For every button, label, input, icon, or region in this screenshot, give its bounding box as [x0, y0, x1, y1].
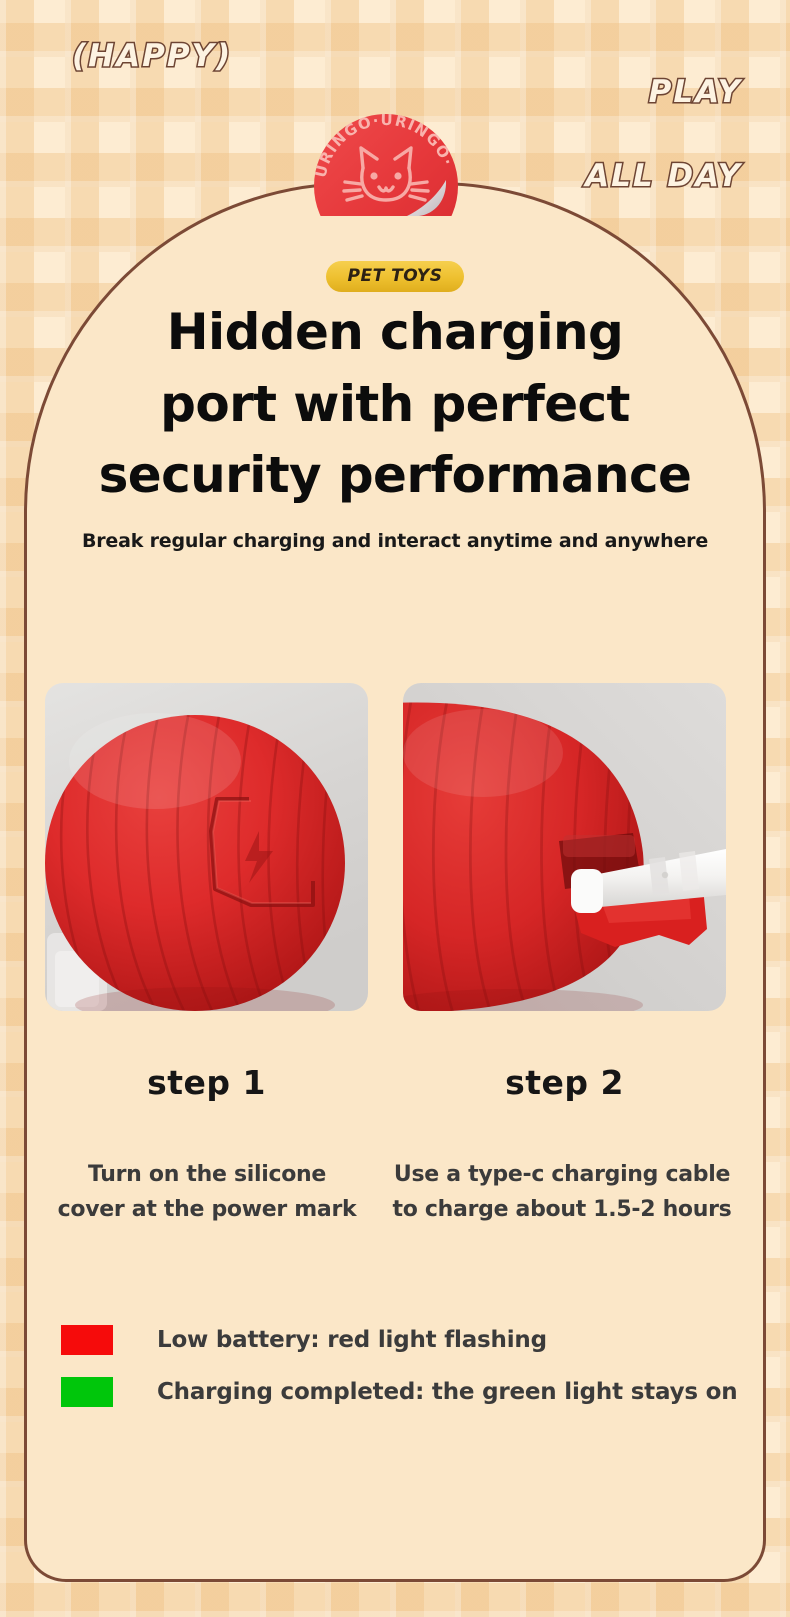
- battery-status-legend: Low battery: red light flashing Charging…: [61, 1325, 761, 1429]
- legend-row-charging-complete: Charging completed: the green light stay…: [61, 1377, 761, 1407]
- badge-row: PET TOYS: [27, 261, 763, 292]
- step-2-desc-line-1: Use a type-c charging cable: [392, 1157, 732, 1192]
- brand-sticker-svg: URINGO·URINGO·: [311, 104, 461, 216]
- step-1-description: Turn on the silicone cover at the power …: [37, 1157, 377, 1227]
- page-subtitle: Break regular charging and interact anyt…: [27, 530, 763, 552]
- green-light-swatch: [61, 1377, 113, 1407]
- step-1-photo-svg: [45, 683, 368, 1011]
- low-battery-label: Low battery: red light flashing: [157, 1327, 547, 1353]
- banner-happy-text: (HAPPY): [72, 38, 232, 74]
- step-2-description: Use a type-c charging cable to charge ab…: [392, 1157, 732, 1227]
- legend-row-low-battery: Low battery: red light flashing: [61, 1325, 761, 1355]
- pet-toys-badge: PET TOYS: [326, 261, 465, 292]
- step-2-photo-svg: [403, 683, 726, 1011]
- page-title: Hidden charging port with perfect securi…: [27, 297, 763, 512]
- step-1-desc-line-2: cover at the power mark: [37, 1192, 377, 1227]
- step-1-title: step 1: [45, 1063, 368, 1102]
- banner-play-line1: PLAY: [649, 74, 742, 110]
- banner-play-all-day: PLAY ALL DAY: [560, 30, 743, 197]
- banner-play-line2: ALL DAY: [585, 158, 742, 194]
- product-card: PET TOYS Hidden charging port with perfe…: [24, 182, 766, 1582]
- step-2-title: step 2: [403, 1063, 726, 1102]
- headline-line-1: Hidden charging: [27, 297, 763, 369]
- step-1-desc-line-1: Turn on the silicone: [37, 1157, 377, 1192]
- red-light-swatch: [61, 1325, 113, 1355]
- brand-sticker: URINGO·URINGO·: [311, 104, 461, 216]
- step-1-photo: [45, 683, 368, 1011]
- headline-line-2: port with perfect: [27, 369, 763, 441]
- step-2-photo: [403, 683, 726, 1011]
- headline-line-3: security performance: [27, 440, 763, 512]
- step-2-desc-line-2: to charge about 1.5-2 hours: [392, 1192, 732, 1227]
- charging-completed-label: Charging completed: the green light stay…: [157, 1379, 737, 1405]
